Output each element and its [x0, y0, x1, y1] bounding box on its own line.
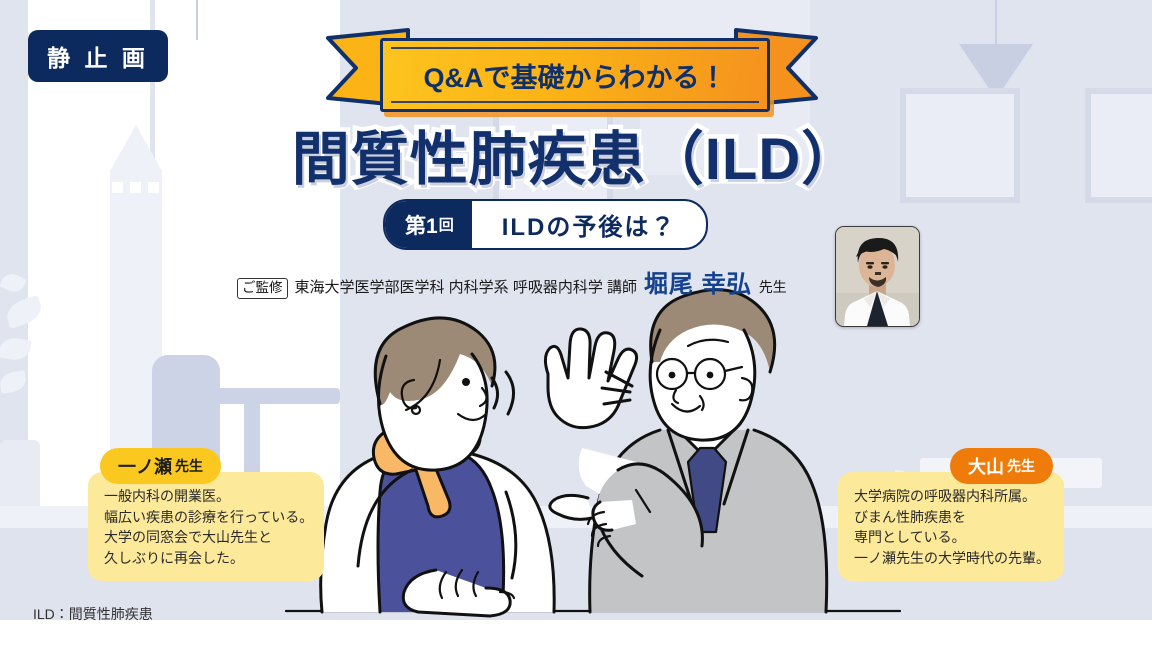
- description-line: 専門としている。: [854, 527, 1048, 548]
- supervisor-tag: ご監修: [237, 278, 288, 299]
- still-image-badge-label: 静 止 画: [47, 39, 149, 73]
- ribbon-rule-bottom: [391, 101, 759, 103]
- description-line: 大学の同窓会で大山先生と: [104, 527, 308, 548]
- description-line: 大学病院の呼吸器内科所属。: [854, 486, 1048, 507]
- supervisor-honorific: 先生: [759, 277, 787, 297]
- character-name: 大山: [968, 453, 1004, 479]
- character-name: 一ノ瀬: [118, 453, 172, 479]
- character-honorific: 先生: [175, 456, 203, 476]
- character-honorific: 先生: [1007, 456, 1035, 476]
- description-line: 幅広い疾患の診療を行っている。: [104, 507, 308, 528]
- supervisor-line: ご監修 東海大学医学部医学科 内科学系 呼吸器内科学 講師 堀尾 幸弘 先生: [237, 264, 787, 299]
- character-description-ichinose: 一般内科の開業医。 幅広い疾患の診療を行っている。 大学の同窓会で大山先生と 久…: [88, 472, 324, 581]
- ribbon-band: Q&Aで基礎からわかる！: [380, 38, 770, 112]
- episode-badge: 第1 回 ILDの予後は？: [383, 199, 708, 250]
- character-ichinose-figure: [321, 318, 555, 616]
- character-oyama-figure: [545, 290, 826, 612]
- episode-number-unit: 回: [439, 214, 454, 235]
- still-image-badge: 静 止 画: [28, 30, 168, 82]
- slide-canvas: .ln{fill:none;stroke:#111;stroke-width:3…: [0, 0, 1152, 648]
- ribbon-rule-top: [391, 47, 759, 49]
- character-name-pill-oyama: 大山 先生: [950, 448, 1053, 484]
- supervisor-name: 堀尾 幸弘: [644, 264, 752, 299]
- character-name-pill-ichinose: 一ノ瀬 先生: [100, 448, 221, 484]
- character-description-oyama: 大学病院の呼吸器内科所属。 びまん性肺疾患を 専門としている。 一ノ瀬先生の大学…: [838, 472, 1064, 581]
- description-line: 久しぶりに再会した。: [104, 548, 308, 569]
- episode-number-value: 第1: [405, 210, 438, 240]
- supervisor-photo: [835, 226, 920, 327]
- episode-topic: ILDの予後は？: [472, 201, 707, 248]
- description-line: びまん性肺疾患を: [854, 507, 1048, 528]
- footnote: ILD：間質性肺疾患: [33, 604, 153, 624]
- page-title: 間質性肺疾患（ILD）: [0, 112, 1152, 196]
- description-line: 一般内科の開業医。: [104, 486, 308, 507]
- ribbon-banner: Q&Aで基礎からわかる！: [322, 24, 822, 122]
- episode-number: 第1 回: [385, 201, 472, 248]
- description-line: 一ノ瀬先生の大学時代の先輩。: [854, 548, 1048, 569]
- ribbon-text: Q&Aで基礎からわかる！: [424, 56, 727, 95]
- supervisor-affiliation: 東海大学医学部医学科 内科学系 呼吸器内科学 講師: [295, 276, 638, 297]
